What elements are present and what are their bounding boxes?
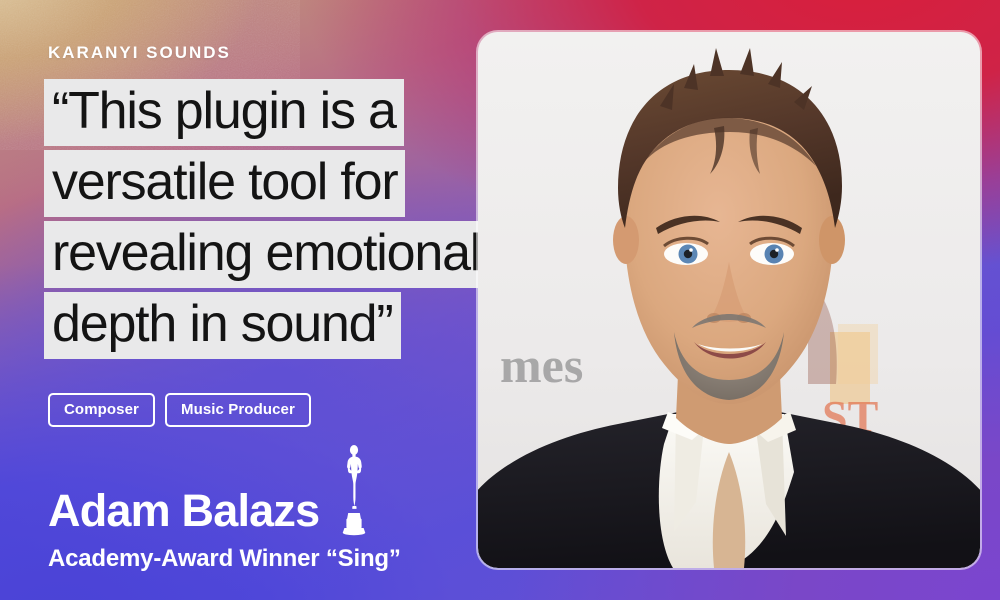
brand-name: KARANYI SOUNDS [48,44,480,61]
content-column: KARANYI SOUNDS “This plugin is a versati… [0,0,480,600]
portrait-photo-image: mes ST [478,32,980,568]
tag-music-producer: Music Producer [165,393,311,427]
quote-line: “This plugin is a [44,79,404,146]
name-row: Adam Balazs [48,441,480,533]
quote-line: versatile tool for [44,150,405,217]
tag-list: Composer Music Producer [48,393,480,427]
quote-block: “This plugin is a versatile tool for rev… [44,79,480,359]
testimonial-card: KARANYI SOUNDS “This plugin is a versati… [0,0,1000,600]
oscar-statuette-icon [337,441,371,537]
person-name: Adam Balazs [48,488,319,533]
svg-text:mes: mes [500,337,583,393]
portrait-photo: mes ST [478,32,980,568]
person-subtitle: Academy-Award Winner “Sing” [48,545,480,573]
tag-composer: Composer [48,393,155,427]
quote-line: depth in sound” [44,292,401,359]
quote-line: revealing emotional [44,221,488,288]
